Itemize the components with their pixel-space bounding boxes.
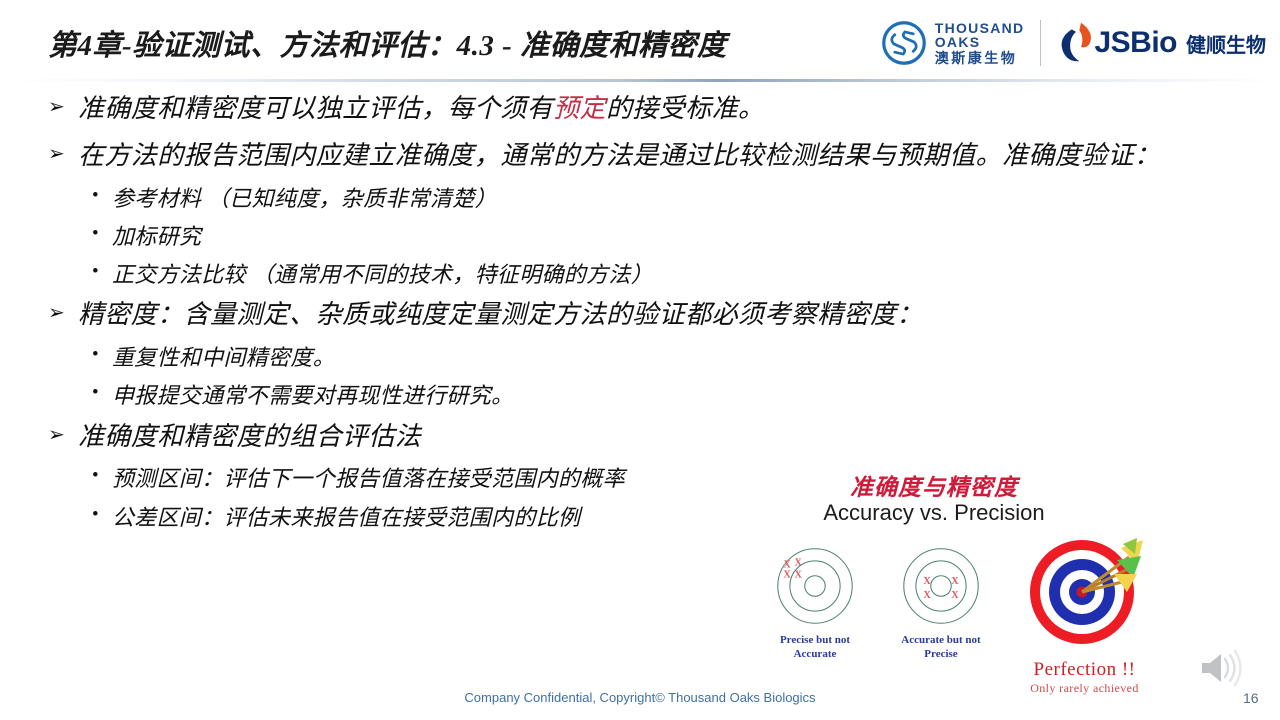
bullet-text: 准确度和精密度的组合评估法: [78, 422, 421, 451]
jsbio-wordmark: JSBio: [1094, 26, 1177, 60]
svg-text:X: X: [951, 590, 959, 601]
bullet-level1: ➢准确度和精密度可以独立评估，每个须有预定的接受标准。: [0, 92, 1180, 127]
sub-bullet-group: •重复性和中间精密度。 •申报提交通常不需要对再现性进行研究。: [0, 343, 1180, 410]
target-caption: Accurate but not Precise: [876, 634, 1006, 662]
dartboard-with-darts-icon: [1025, 534, 1145, 652]
dot-bullet-icon: •: [92, 380, 99, 405]
thousand-oaks-logo-icon: [881, 20, 927, 66]
dot-bullet-icon: •: [92, 342, 99, 367]
slide-canvas: 第4章-验证测试、方法和评估：4.3 - 准确度和精密度 THOUSAND OA…: [0, 0, 1280, 720]
jsbio-chinese-name: 健顺生物: [1186, 29, 1266, 58]
svg-text:X: X: [951, 576, 959, 587]
dot-bullet-icon: •: [92, 502, 99, 527]
jsbio-flame-logo-icon: [1055, 21, 1097, 65]
bullet-level2: •重复性和中间精密度。: [0, 343, 1180, 372]
arrow-bullet-icon: ➢: [48, 94, 65, 121]
footer-confidential-notice: Company Confidential, Copyright© Thousan…: [0, 690, 1280, 705]
caption-line-2: Precise: [924, 648, 957, 660]
svg-text:X: X: [795, 570, 803, 581]
dot-bullet-icon: •: [92, 221, 99, 246]
sub-bullet-group: •参考材料 （已知纯度，杂质非常清楚） •加标研究 •正交方法比较 （通常用不同…: [0, 184, 1180, 289]
target-circles-icon: X X X X: [763, 546, 867, 626]
bullet-text-highlight: 预定: [553, 94, 606, 123]
speaker-volume-icon[interactable]: [1196, 648, 1248, 688]
title-divider: [0, 79, 1280, 82]
accuracy-precision-figure: 准确度与精密度 Accuracy vs. Precision X X X X P…: [748, 468, 1168, 688]
bullet-text: 公差区间：评估未来报告值在接受范围内的比例: [112, 505, 580, 530]
target-circles-icon: X X X X: [889, 546, 993, 626]
page-number: 16: [1243, 690, 1259, 706]
target-caption: Precise but not Accurate: [750, 634, 880, 662]
bullet-level1: ➢精密度：含量测定、杂质或纯度定量测定方法的验证都必须考察精密度：: [0, 298, 1180, 333]
arrow-bullet-icon: ➢: [48, 141, 65, 168]
bullet-level2: •正交方法比较 （通常用不同的技术，特征明确的方法）: [0, 260, 1180, 289]
bullet-text: 加标研究: [112, 224, 201, 249]
dartboard-caption-line-1: Perfection !!: [1002, 659, 1167, 681]
svg-text:X: X: [783, 570, 791, 581]
caption-line-1: Precise but not: [780, 634, 850, 646]
logo-chinese-name: 澳斯康生物: [935, 51, 1025, 65]
logo-separator: [1040, 20, 1041, 66]
bullet-text: 精密度：含量测定、杂质或纯度定量测定方法的验证都必须考察精密度：: [78, 300, 923, 329]
arrow-bullet-icon: ➢: [48, 422, 65, 449]
bullet-text: 预测区间：评估下一个报告值落在接受范围内的概率: [112, 466, 625, 491]
jsbio-logo: JSBio 健顺生物: [1055, 21, 1274, 65]
logo-line-1: THOUSAND: [935, 21, 1025, 35]
dot-bullet-icon: •: [92, 183, 99, 208]
bullet-text-part-1: 准确度和精密度可以独立评估，每个须有: [78, 94, 553, 123]
bullet-text: 重复性和中间精密度。: [112, 345, 335, 370]
thousand-oaks-logo-text: THOUSAND OAKS 澳斯康生物: [935, 21, 1025, 65]
target-accurate-not-precise: X X X X Accurate but not Precise: [876, 546, 1006, 662]
bullet-text: 在方法的报告范围内应建立准确度，通常的方法是通过比较检测结果与预期值。准确度验证…: [78, 141, 1160, 170]
bullet-text: 申报提交通常不需要对再现性进行研究。: [112, 383, 513, 408]
bullet-text: 参考材料 （已知纯度，杂质非常清楚）: [112, 186, 497, 211]
bullet-level1: ➢在方法的报告范围内应建立准确度，通常的方法是通过比较检测结果与预期值。准确度验…: [0, 139, 1180, 174]
svg-text:X: X: [923, 590, 931, 601]
figure-title-chinese: 准确度与精密度: [748, 468, 1120, 502]
thousand-oaks-logo: THOUSAND OAKS 澳斯康生物: [881, 20, 1041, 66]
target-precise-not-accurate: X X X X Precise but not Accurate: [750, 546, 880, 662]
bullet-text-part-2: 的接受标准。: [606, 94, 764, 123]
svg-text:X: X: [795, 558, 803, 569]
bullet-level1: ➢准确度和精密度的组合评估法: [0, 420, 1180, 455]
bullet-text: 正交方法比较 （通常用不同的技术，特征明确的方法）: [112, 262, 653, 287]
caption-line-1: Accurate but not: [901, 634, 980, 646]
caption-line-2: Accurate: [794, 648, 837, 660]
bullet-level2: •加标研究: [0, 222, 1180, 251]
dot-bullet-icon: •: [92, 259, 99, 284]
logo-group: THOUSAND OAKS 澳斯康生物 JSBio 健顺生物: [881, 14, 1274, 72]
logo-line-2: OAKS: [935, 35, 1025, 49]
slide-header: 第4章-验证测试、方法和评估：4.3 - 准确度和精密度 THOUSAND OA…: [0, 0, 1280, 84]
dot-bullet-icon: •: [92, 463, 99, 488]
arrow-bullet-icon: ➢: [48, 300, 65, 327]
bullet-level2: •参考材料 （已知纯度，杂质非常清楚）: [0, 184, 1180, 213]
dartboard-figure: Perfection !! Only rarely achieved: [1002, 534, 1167, 696]
bullet-level2: •申报提交通常不需要对再现性进行研究。: [0, 381, 1180, 410]
page-title: 第4章-验证测试、方法和评估：4.3 - 准确度和精密度: [48, 22, 727, 64]
figure-title-english: Accuracy vs. Precision: [748, 500, 1120, 526]
svg-text:X: X: [923, 576, 931, 587]
